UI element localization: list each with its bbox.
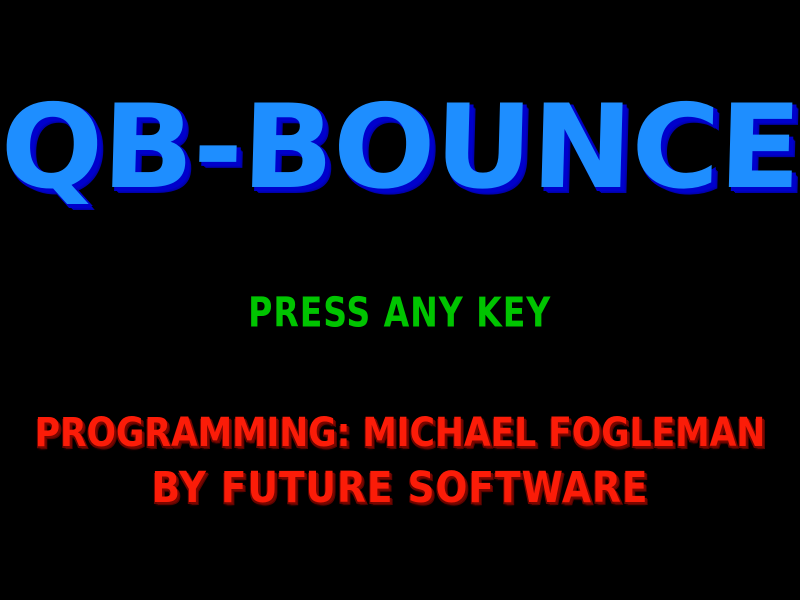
credit-line-publisher: BY FUTURE SOFTWARE [12,464,788,512]
credit-line-programming: PROGRAMMING: MICHAEL FOGLEMAN [16,410,784,456]
game-title-screen[interactable]: QB-BOUNCE PRESS ANY KEY PROGRAMMING: MIC… [0,0,800,600]
press-any-key-container: PRESS ANY KEY [0,292,800,338]
game-title-container: QB-BOUNCE [0,88,800,228]
game-title: QB-BOUNCE [0,88,800,208]
credits-container: PROGRAMMING: MICHAEL FOGLEMAN BY FUTURE … [0,410,800,512]
press-any-key-prompt[interactable]: PRESS ANY KEY [249,292,552,335]
